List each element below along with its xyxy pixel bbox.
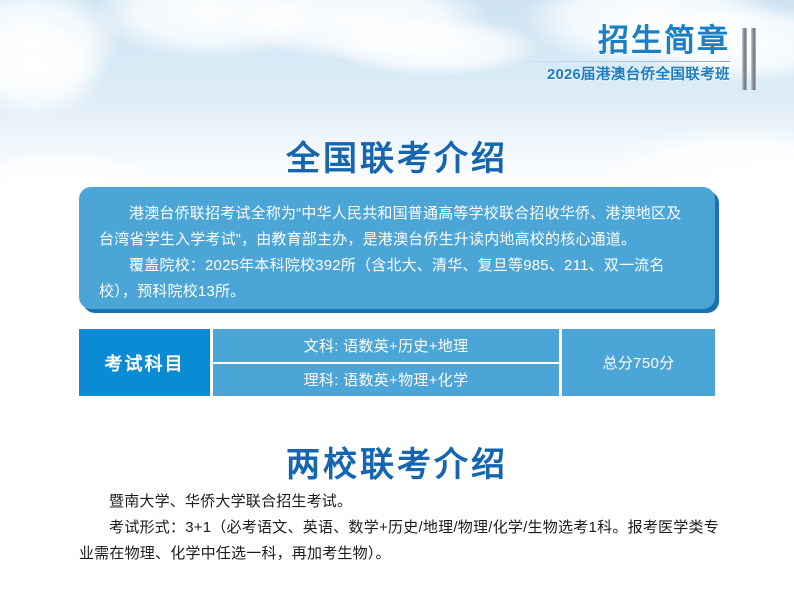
body-paragraph-exam-format: 考试形式：3+1（必考语文、英语、数学+历史/地理/物理/化学/生物选考1科。报… — [79, 515, 719, 567]
national-exam-info-card: 港澳台侨联招考试全称为“中华人民共和国普通高等学校联合招收华侨、港澳地区及台湾省… — [79, 187, 715, 309]
section-title-national-exam: 全国联考介绍 — [0, 131, 794, 180]
accent-bar — [742, 28, 747, 90]
header-subtitle: 2026届港澳台侨全国联考班 — [547, 66, 730, 84]
body-paragraph-universities: 暨南大学、华侨大学联合招生考试。 — [79, 489, 719, 515]
header-divider-rule — [524, 61, 730, 62]
table-header-cell-subjects: 考试科目 — [79, 329, 210, 396]
section-title-two-school-exam: 两校联考介绍 — [0, 437, 794, 486]
header-banner: 招生简章 2026届港澳台侨全国联考班 — [524, 24, 756, 90]
table-subject-rows: 文科: 语数英+历史+地理 理科: 语数英+物理+化学 — [213, 329, 559, 396]
accent-bar — [751, 28, 756, 90]
header-text-group: 招生简章 2026届港澳台侨全国联考班 — [524, 24, 730, 84]
exam-subjects-table: 考试科目 文科: 语数英+历史+地理 理科: 语数英+物理+化学 总分750分 — [79, 329, 715, 396]
two-school-body: 暨南大学、华侨大学联合招生考试。 考试形式：3+1（必考语文、英语、数学+历史/… — [79, 489, 719, 567]
table-row: 文科: 语数英+历史+地理 — [213, 329, 559, 362]
header-title: 招生简章 — [598, 24, 730, 59]
table-cell-total-score: 总分750分 — [562, 329, 715, 396]
info-paragraph-overview: 港澳台侨联招考试全称为“中华人民共和国普通高等学校联合招收华侨、港澳地区及台湾省… — [99, 201, 695, 253]
table-row: 理科: 语数英+物理+化学 — [213, 364, 559, 397]
header-accent-bars — [742, 24, 756, 90]
info-paragraph-schools: 覆盖院校：2025年本科院校392所（含北大、清华、复旦等985、211、双一流… — [99, 253, 695, 305]
